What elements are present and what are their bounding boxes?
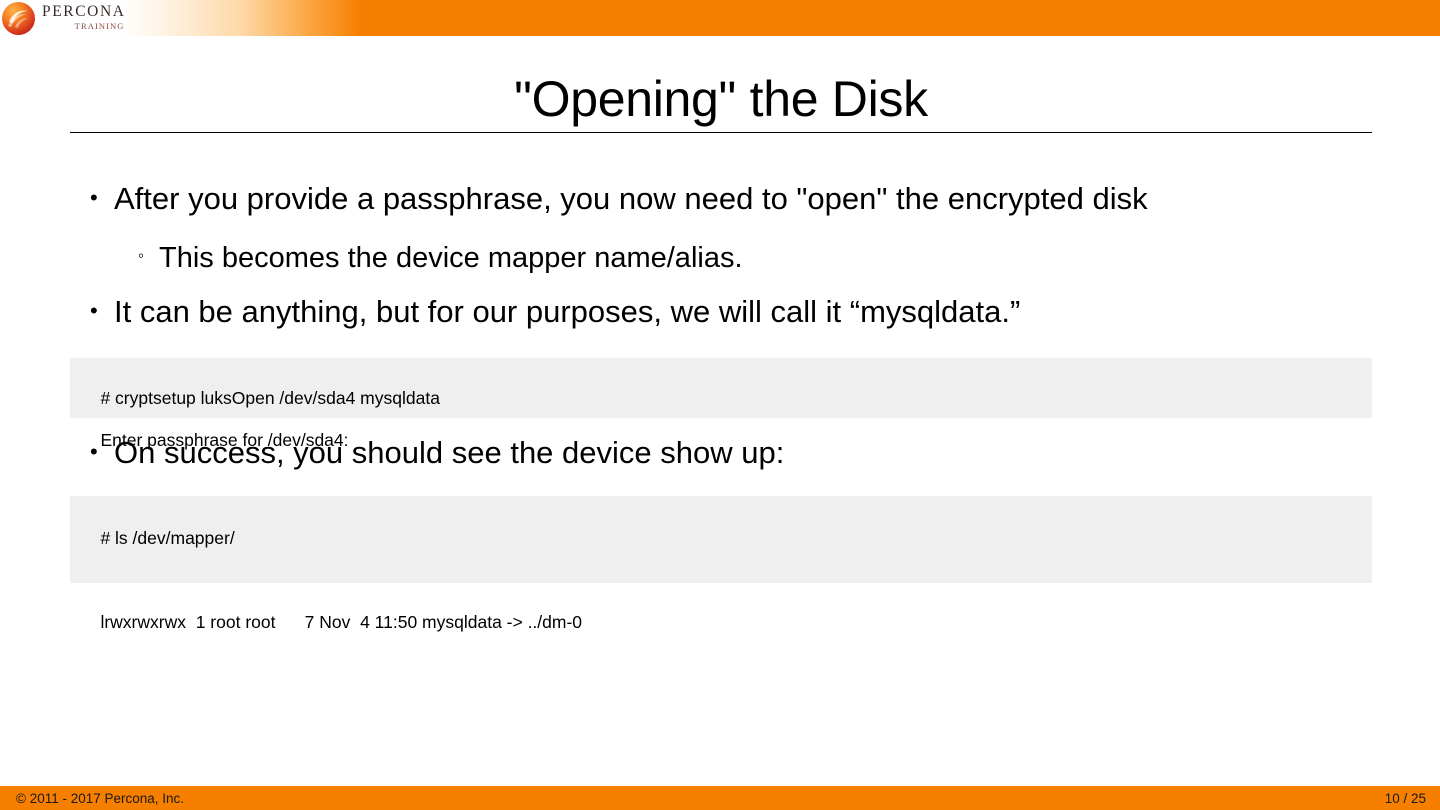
- bullet-text: This becomes the device mapper name/alia…: [159, 241, 743, 275]
- code-line: # ls /dev/mapper/: [100, 528, 234, 548]
- title-divider: [70, 132, 1372, 133]
- code-line: # cryptsetup luksOpen /dev/sda4 mysqldat…: [100, 388, 440, 408]
- logo-subtitle: TRAINING: [42, 22, 126, 31]
- header-bar: [0, 0, 1440, 36]
- footer-copyright: © 2011 - 2017 Percona, Inc.: [16, 791, 184, 806]
- footer-page-number: 10 / 25: [1385, 791, 1426, 806]
- percona-seagull-logo-icon: [2, 2, 35, 35]
- bullet-item: • It can be anything, but for our purpos…: [90, 294, 1020, 331]
- logo-text: PERCONA TRAINING: [42, 4, 126, 32]
- bullet-marker-icon: ◦: [138, 241, 159, 271]
- code-block: # cryptsetup luksOpen /dev/sda4 mysqldat…: [70, 358, 1372, 418]
- bullet-text: After you provide a passphrase, you now …: [114, 181, 1148, 218]
- slide-title: "Opening" the Disk: [70, 70, 1372, 128]
- bullet-item: • After you provide a passphrase, you no…: [90, 181, 1148, 218]
- code-block: # ls /dev/mapper/ lrwxrwxrwx 1 root root…: [70, 496, 1372, 583]
- logo-wordmark: PERCONA: [42, 4, 126, 20]
- slide: PERCONA TRAINING "Opening" the Disk • Af…: [0, 0, 1440, 810]
- bullet-marker-icon: •: [90, 294, 114, 328]
- footer-bar: [0, 786, 1440, 810]
- bullet-text: It can be anything, but for our purposes…: [114, 294, 1020, 331]
- bullet-item: ◦ This becomes the device mapper name/al…: [138, 241, 743, 275]
- bullet-marker-icon: •: [90, 181, 114, 215]
- code-line: Enter passphrase for /dev/sda4:: [100, 430, 348, 450]
- code-blank-line: [81, 570, 1362, 591]
- code-line: lrwxrwxrwx 1 root root 7 Nov 4 11:50 mys…: [100, 612, 582, 632]
- percona-logo: PERCONA TRAINING: [2, 1, 126, 35]
